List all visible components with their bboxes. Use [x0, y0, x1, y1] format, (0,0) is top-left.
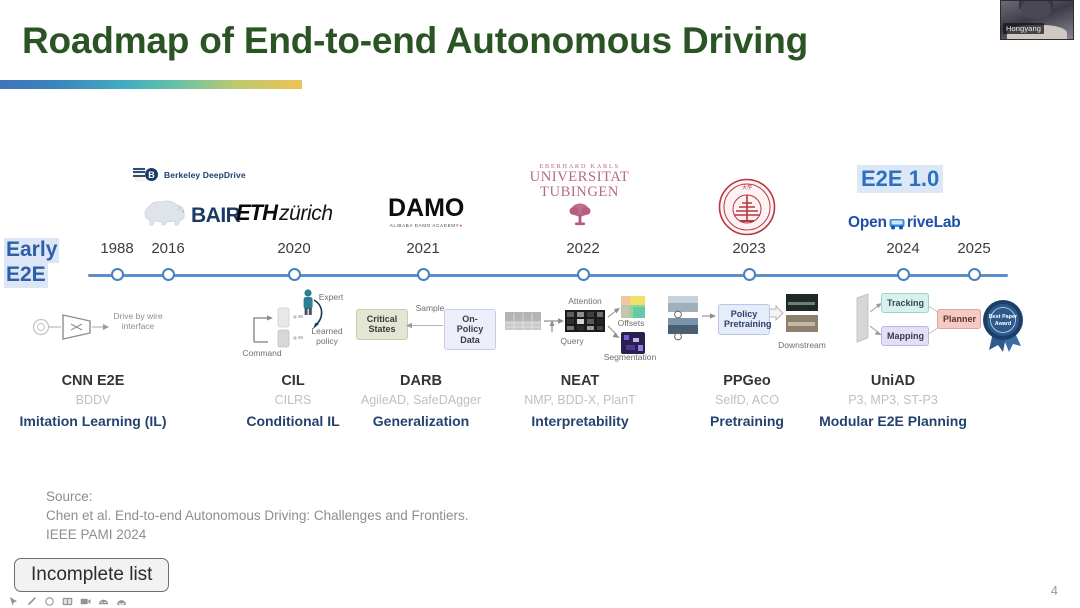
- roadmap-column-darb: DARBAgileAD, SafeDAggerGeneralization: [334, 372, 509, 431]
- damo-label: DAMO: [388, 196, 464, 221]
- diagram-uniad: Best Paper Award Tracking Mapping Planne…: [855, 288, 1027, 354]
- darb-critical-states-label: Critical States: [367, 314, 398, 334]
- logo-eth-zurich: ETH zürich: [236, 200, 333, 226]
- column-theme: Modular E2E Planning: [806, 413, 981, 431]
- timeline-node-2016: [162, 268, 175, 281]
- darb-on-policy-data-label: On-Policy Data: [457, 314, 484, 345]
- neat-segmentation-label: Segmentation: [601, 352, 659, 362]
- logo-berkeley-deepdrive: B Berkeley DeepDrive: [133, 167, 246, 182]
- column-sublist: P3, MP3, ST-P3: [806, 392, 981, 409]
- berkeley-deepdrive-label: Berkeley DeepDrive: [164, 170, 246, 180]
- timeline-node-2020: [288, 268, 301, 281]
- svg-text:Award: Award: [995, 321, 1011, 327]
- diagram-cil: Command Expert Learned policy: [244, 286, 349, 358]
- diagram-ppgeo: Policy Pretraining Downstream: [666, 292, 821, 358]
- timeline-year-2020: 2020: [277, 240, 310, 257]
- uniad-mapping-label: Mapping: [887, 331, 924, 341]
- uniad-mapping-box: Mapping: [881, 326, 929, 346]
- neat-query-label: Query: [555, 336, 589, 346]
- cil-command-label: Command: [240, 348, 284, 358]
- opendrivelab-label-a: Open: [848, 214, 887, 232]
- damo-subtext: ALIBABA DAMO ACADEMY: [390, 223, 460, 228]
- roadmap-column-uniad: UniADP3, MP3, ST-P3Modular E2E Planning: [806, 372, 981, 431]
- column-name: CNN E2E: [6, 372, 181, 390]
- roadmap-column-cnn-e2e: CNN E2EBDDVImitation Learning (IL): [6, 372, 181, 431]
- berkeley-deepdrive-mark: B: [133, 167, 159, 182]
- laser-pointer-icon[interactable]: [44, 596, 55, 607]
- diagram-cnn-e2e: Drive by wire interface: [30, 305, 165, 353]
- timeline-year-2025: 2025: [957, 240, 990, 257]
- timeline-node-2022: [577, 268, 590, 281]
- tubingen-line2: UNIVERSITAT: [512, 170, 647, 185]
- column-name: UniAD: [806, 372, 981, 390]
- uniad-planner-label: Planner: [943, 314, 976, 324]
- opendrivelab-car-icon: [888, 215, 906, 231]
- participants-icon[interactable]: [98, 596, 109, 607]
- incomplete-list-badge: Incomplete list: [14, 558, 169, 592]
- column-name: DARB: [334, 372, 509, 390]
- berkeley-deepdrive-letter: B: [145, 168, 158, 181]
- early-e2e-line2: E2E: [4, 263, 48, 288]
- timeline-node-2025: [968, 268, 981, 281]
- damo-sublabel: ALIBABA DAMO ACADEMY●: [388, 223, 464, 228]
- timeline-node-2023: [743, 268, 756, 281]
- webcam-overlay[interactable]: Hongyang: [1000, 0, 1074, 40]
- university-seal-icon: 大学: [718, 178, 776, 236]
- timeline-year-2016: 2016: [151, 240, 184, 257]
- timeline-year-2021: 2021: [406, 240, 439, 257]
- timeline-node-1988: [111, 268, 124, 281]
- timeline-year-2023: 2023: [732, 240, 765, 257]
- ppgeo-downstream-label: Downstream: [774, 340, 830, 350]
- darb-arrow-left-icon: [406, 321, 415, 330]
- title-gradient-rule: [0, 80, 302, 89]
- bair-bear-icon: [140, 196, 188, 226]
- diagram-darb: Critical States Sample On-Policy Data: [356, 303, 496, 349]
- logo-opendrivelab: Open riveLab: [848, 214, 961, 232]
- diagram-neat: Query Attention Offsets Segmentation: [503, 290, 653, 360]
- ppgeo-policy-pretraining-label: Policy Pretraining: [724, 309, 772, 329]
- source-line-3: IEEE PAMI 2024: [46, 525, 469, 544]
- logo-damo: DAMO ALIBABA DAMO ACADEMY●: [388, 196, 464, 228]
- cursor-icon[interactable]: [8, 596, 19, 607]
- timeline-year-2024: 2024: [886, 240, 919, 257]
- logo-bair: BAIR: [140, 196, 240, 226]
- column-theme: Generalization: [334, 413, 509, 431]
- roadmap-column-neat: NEATNMP, BDD-X, PlanTInterpretability: [493, 372, 668, 431]
- uniad-tracking-box: Tracking: [881, 293, 929, 313]
- page-number: 4: [1051, 583, 1058, 598]
- source-line-2: Chen et al. End-to-end Autonomous Drivin…: [46, 506, 469, 525]
- column-theme: Interpretability: [493, 413, 668, 431]
- column-sublist: AgileAD, SafeDAgger: [334, 392, 509, 409]
- early-e2e-line1: Early: [4, 238, 59, 263]
- logo-universitat-tubingen: EBERHARD KARLS UNIVERSITAT TUBINGEN: [512, 163, 647, 232]
- timeline-node-2024: [897, 268, 910, 281]
- darb-sample-label: Sample: [412, 303, 448, 313]
- timeline-year-1988: 1988: [100, 240, 133, 257]
- svg-text:Best Paper: Best Paper: [989, 314, 1018, 320]
- timeline-axis: [88, 274, 1008, 277]
- presentation-slide: Roadmap of End-to-end Autonomous Driving…: [0, 0, 1080, 608]
- early-e2e-tag: Early E2E: [4, 238, 78, 288]
- neat-attention-label: Attention: [559, 296, 611, 306]
- timeline-year-2022: 2022: [566, 240, 599, 257]
- column-name: NEAT: [493, 372, 668, 390]
- zurich-label: zürich: [279, 202, 333, 226]
- neat-offsets-label: Offsets: [611, 318, 651, 328]
- webcam-head: [1021, 0, 1051, 19]
- uniad-tracking-label: Tracking: [887, 298, 924, 308]
- video-icon[interactable]: [80, 596, 91, 607]
- reactions-icon[interactable]: [116, 596, 127, 607]
- e2e-1-0-tag: E2E 1.0: [857, 165, 943, 193]
- tubingen-tree-icon: [567, 201, 593, 227]
- presenter-toolbar[interactable]: [8, 596, 127, 607]
- pen-icon[interactable]: [26, 596, 37, 607]
- cil-learned-policy-label: Learned policy: [306, 326, 348, 346]
- slide-view-icon[interactable]: [62, 596, 73, 607]
- uniad-planner-box: Planner: [937, 309, 981, 329]
- cnn-e2e-label: Drive by wire interface: [112, 311, 164, 331]
- source-line-1: Source:: [46, 487, 469, 506]
- ppgeo-policy-pretraining-box: Policy Pretraining: [718, 304, 770, 335]
- svg-text:大学: 大学: [742, 184, 752, 191]
- webcam-name-label: Hongyang: [1003, 23, 1044, 34]
- darb-connector: [411, 325, 443, 326]
- darb-on-policy-data-box: On-Policy Data: [444, 309, 496, 350]
- column-theme: Imitation Learning (IL): [6, 413, 181, 431]
- tubingen-line3: TUBINGEN: [512, 185, 647, 200]
- column-sublist: BDDV: [6, 392, 181, 409]
- bair-label: BAIR: [191, 205, 240, 226]
- timeline-node-2021: [417, 268, 430, 281]
- cil-expert-label: Expert: [314, 292, 348, 302]
- source-note: Source: Chen et al. End-to-end Autonomou…: [46, 487, 469, 544]
- darb-critical-states-box: Critical States: [356, 309, 408, 340]
- page-title: Roadmap of End-to-end Autonomous Driving: [22, 20, 808, 62]
- eth-label: ETH: [236, 200, 277, 226]
- column-sublist: NMP, BDD-X, PlanT: [493, 392, 668, 409]
- opendrivelab-label-b: riveLab: [907, 214, 961, 232]
